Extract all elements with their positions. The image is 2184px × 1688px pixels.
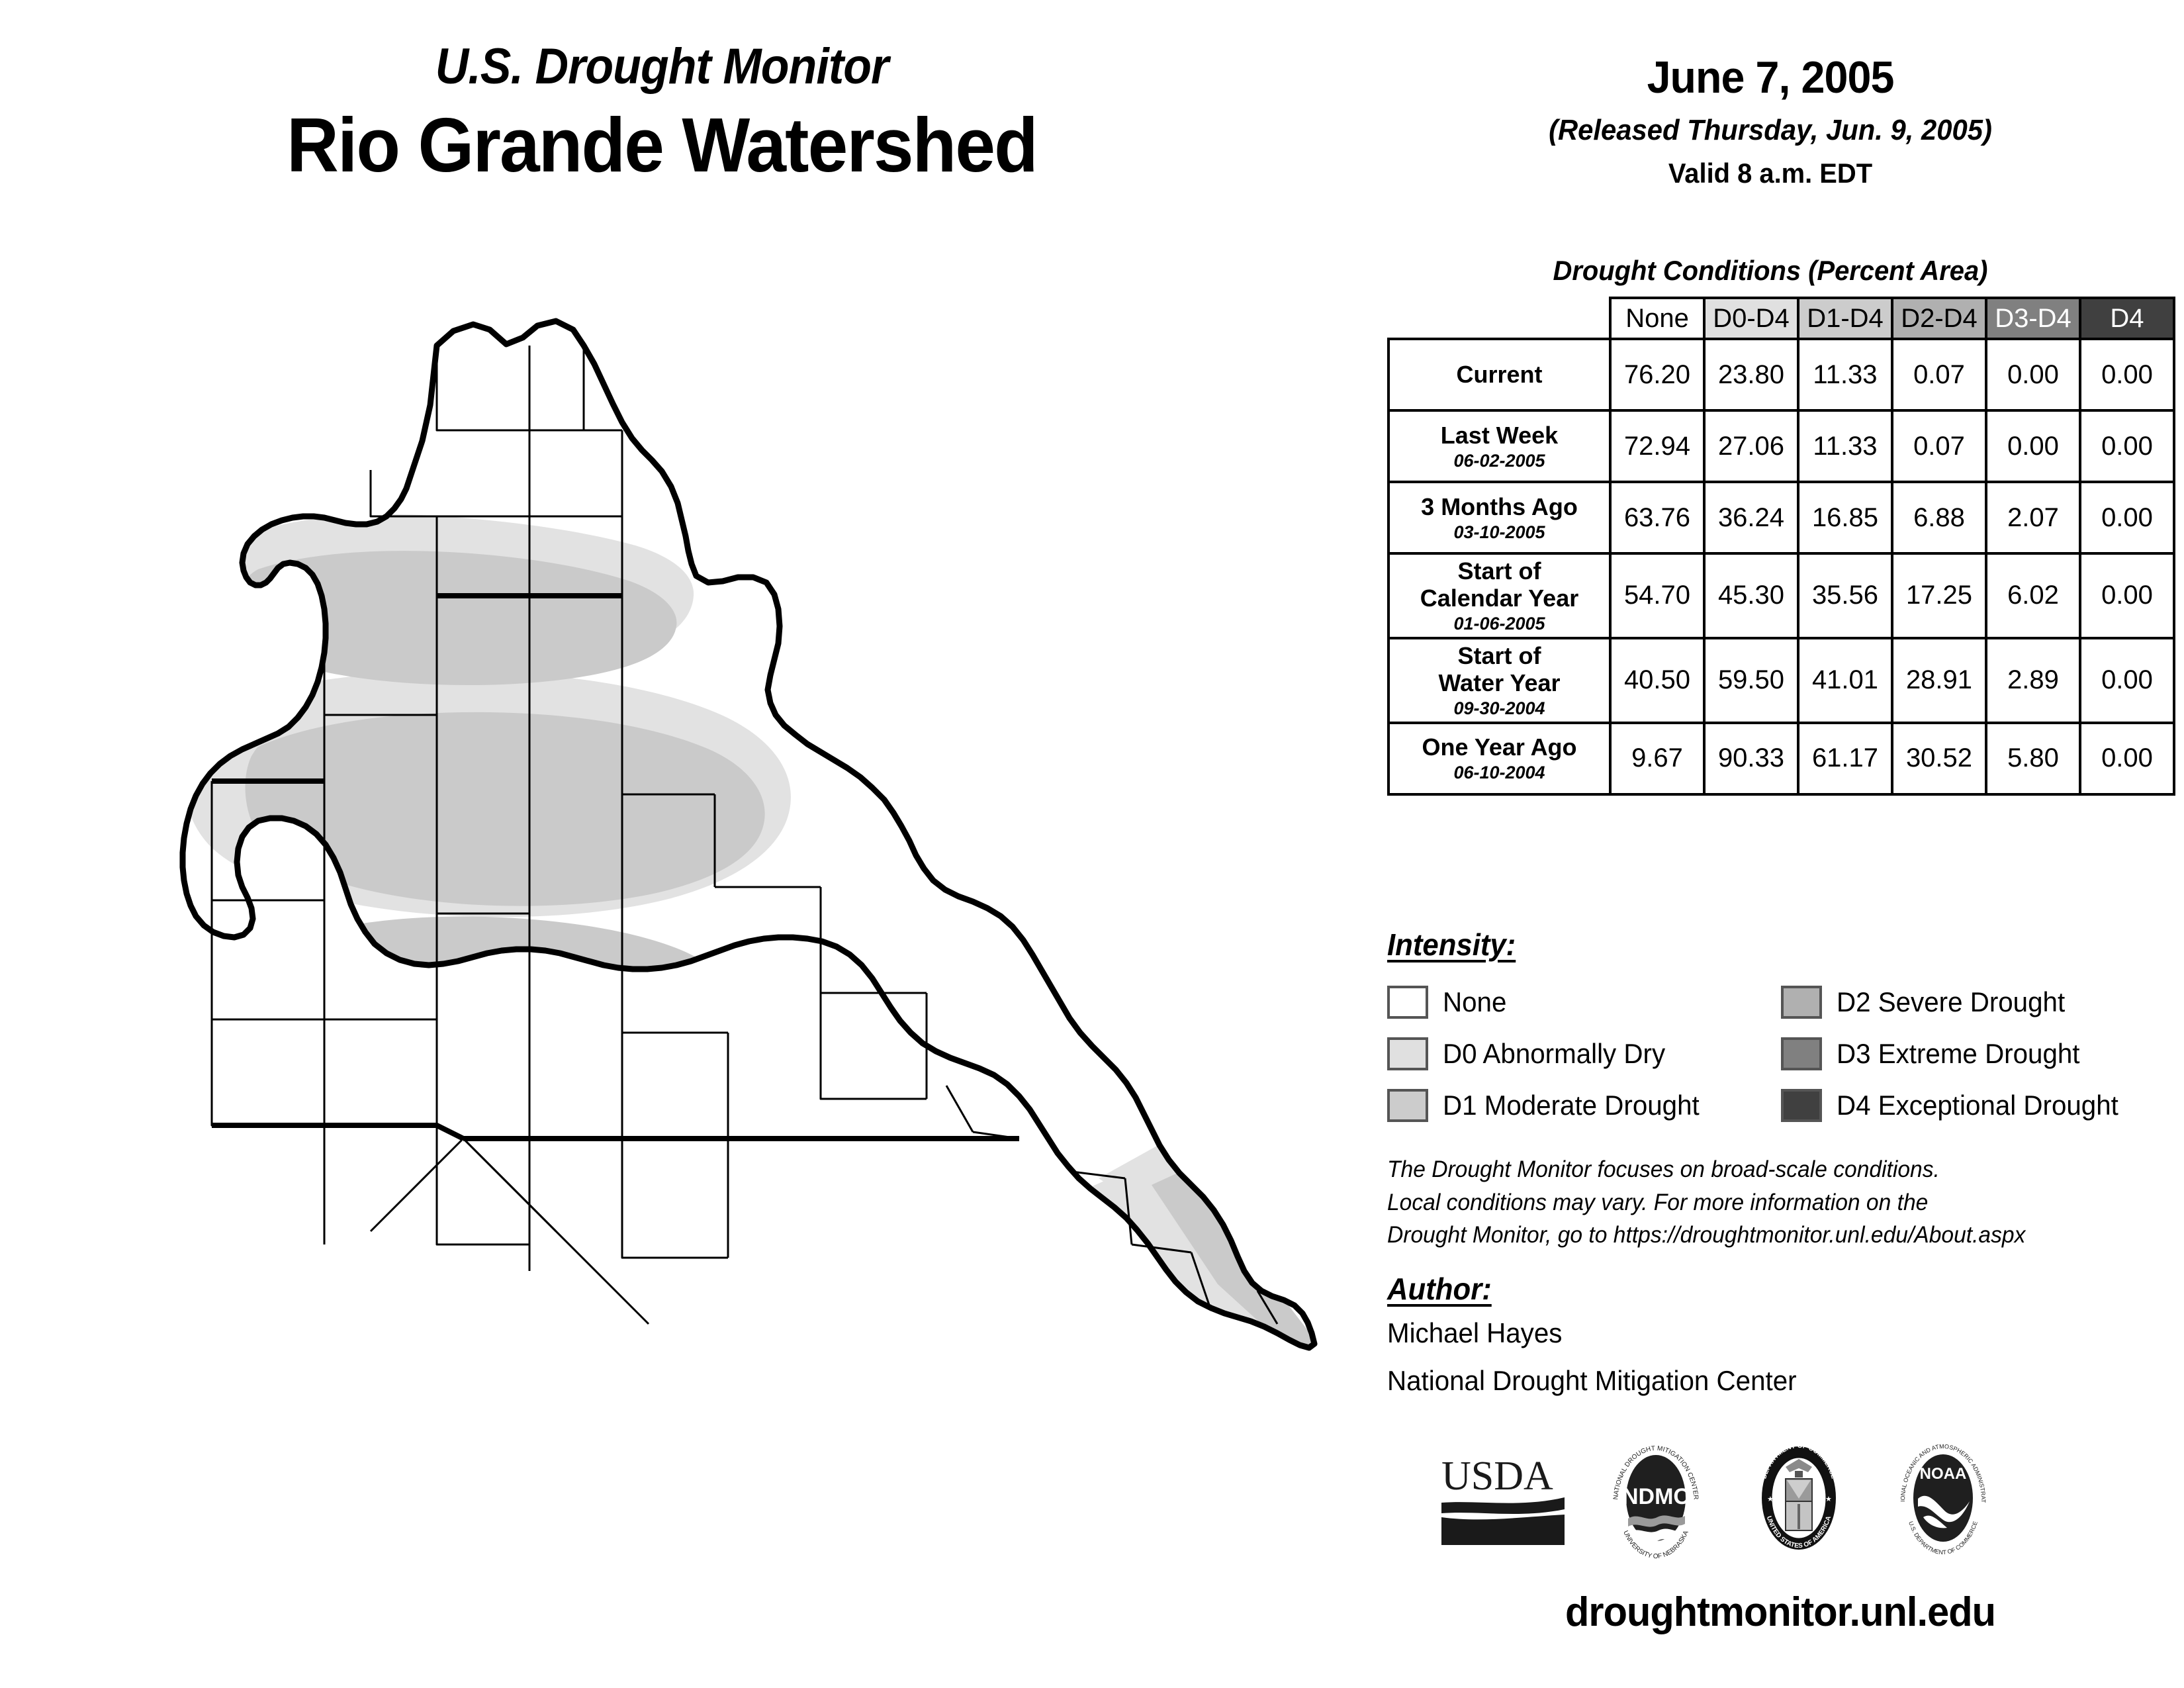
table-cell-d1-d4: 61.17	[1798, 723, 1892, 794]
row-label-date: 06-10-2004	[1394, 763, 1605, 783]
table-cell-d1-d4: 11.33	[1798, 339, 1892, 410]
table-row: One Year Ago06-10-20049.6790.3361.1730.5…	[1388, 723, 2174, 794]
disclaimer-line-2: Local conditions may vary. For more info…	[1387, 1186, 2150, 1219]
legend-label: D0 Abnormally Dry	[1443, 1038, 1665, 1070]
table-column-header-none: None	[1610, 298, 1704, 339]
table-row: 3 Months Ago03-10-200563.7636.2416.856.8…	[1388, 482, 2174, 553]
noaa-logo: NOAA NATIONAL OCEANIC AND ATMOSPHERIC AD…	[1889, 1435, 1998, 1564]
table-column-header-d3-d4: D3-D4	[1986, 298, 2080, 339]
table-cell-d4: 0.00	[2080, 723, 2174, 794]
table-cell-d4: 0.00	[2080, 410, 2174, 482]
table-corner-cell	[1388, 298, 1610, 339]
author-organization: National Drought Mitigation Center	[1387, 1365, 1797, 1397]
table-cell-d0-d4: 59.50	[1704, 638, 1798, 723]
table-cell-d1-d4: 16.85	[1798, 482, 1892, 553]
row-label: 3 Months Ago03-10-2005	[1388, 482, 1610, 553]
row-label-date: 09-30-2004	[1394, 698, 1605, 719]
table-cell-d0-d4: 23.80	[1704, 339, 1798, 410]
valid-time: Valid 8 a.m. EDT	[1396, 158, 2145, 189]
table-cell-d1-d4: 41.01	[1798, 638, 1892, 723]
row-label: Start ofWater Year09-30-2004	[1388, 638, 1610, 723]
svg-text:NOAA: NOAA	[1920, 1465, 1967, 1483]
legend-label: D1 Moderate Drought	[1443, 1090, 1700, 1121]
table-cell-d2-d4: 30.52	[1892, 723, 1986, 794]
department-of-commerce-seal: ★ ★ DEPARTMENT OF COMMERCE UNITED STATES…	[1746, 1435, 1852, 1564]
rio-grande-watershed-drought-map[interactable]	[93, 318, 1330, 1609]
table-cell-d3-d4: 6.02	[1986, 553, 2080, 638]
disclaimer-line-1: The Drought Monitor focuses on broad-sca…	[1387, 1153, 2150, 1186]
ndmc-logo: NDMC NATIONAL DROUGHT MITIGATION CENTER …	[1603, 1435, 1709, 1564]
map-panel: U.S. Drought Monitor Rio Grande Watershe…	[0, 0, 1377, 1688]
legend-row: D1 Moderate DroughtD4 Exceptional Drough…	[1387, 1080, 2175, 1131]
info-panel: June 7, 2005 (Released Thursday, Jun. 9,…	[1377, 0, 2184, 1688]
drought-conditions-table: NoneD0-D4D1-D4D2-D4D3-D4D4 Current76.202…	[1387, 297, 2175, 796]
table-cell-none: 54.70	[1610, 553, 1704, 638]
table-row: Start ofCalendar Year01-06-200554.7045.3…	[1388, 553, 2174, 638]
table-cell-none: 76.20	[1610, 339, 1704, 410]
table-cell-d0-d4: 90.33	[1704, 723, 1798, 794]
legend-item-d4-exceptional-drought[interactable]: D4 Exceptional Drought	[1781, 1089, 2175, 1122]
legend-swatch	[1781, 986, 1822, 1019]
table-cell-d0-d4: 36.24	[1704, 482, 1798, 553]
table-cell-d2-d4: 6.88	[1892, 482, 1986, 553]
legend-item-d1-moderate-drought[interactable]: D1 Moderate Drought	[1387, 1089, 1781, 1122]
table-cell-d0-d4: 27.06	[1704, 410, 1798, 482]
row-label-date: 01-06-2005	[1394, 614, 1605, 634]
disclaimer-line-3: Drought Monitor, go to https://droughtmo…	[1387, 1219, 2150, 1252]
table-cell-d3-d4: 2.89	[1986, 638, 2080, 723]
legend-swatch	[1387, 986, 1428, 1019]
legend-row: NoneD2 Severe Drought	[1387, 976, 2175, 1028]
table-caption: Drought Conditions (Percent Area)	[1396, 255, 2145, 287]
table-cell-d3-d4: 0.00	[1986, 339, 2080, 410]
legend-label: None	[1443, 986, 1506, 1018]
table-row: Last Week06-02-200572.9427.0611.330.070.…	[1388, 410, 2174, 482]
release-date: (Released Thursday, Jun. 9, 2005)	[1396, 114, 2145, 147]
legend-item-d3-extreme-drought[interactable]: D3 Extreme Drought	[1781, 1037, 2175, 1070]
intensity-legend: NoneD2 Severe DroughtD0 Abnormally DryD3…	[1387, 976, 2175, 1131]
table-cell-d3-d4: 5.80	[1986, 723, 2080, 794]
row-label: One Year Ago06-10-2004	[1388, 723, 1610, 794]
intensity-heading: Intensity:	[1387, 927, 1516, 962]
disclaimer-text: The Drought Monitor focuses on broad-sca…	[1387, 1153, 2150, 1252]
table-column-header-d4: D4	[2080, 298, 2174, 339]
table-cell-d2-d4: 17.25	[1892, 553, 1986, 638]
legend-swatch	[1387, 1089, 1428, 1122]
table-cell-d3-d4: 2.07	[1986, 482, 2080, 553]
legend-swatch	[1781, 1089, 1822, 1122]
legend-item-d2-severe-drought[interactable]: D2 Severe Drought	[1781, 986, 2175, 1019]
table-cell-d3-d4: 0.00	[1986, 410, 2080, 482]
table-cell-d2-d4: 0.07	[1892, 339, 1986, 410]
page-subtitle: U.S. Drought Monitor	[53, 40, 1271, 94]
table-body: Current76.2023.8011.330.070.000.00Last W…	[1388, 339, 2174, 794]
svg-text:NDMC: NDMC	[1622, 1484, 1690, 1509]
table-cell-d2-d4: 28.91	[1892, 638, 1986, 723]
usda-logo: USDA	[1440, 1448, 1566, 1551]
table-cell-d4: 0.00	[2080, 339, 2174, 410]
svg-text:★: ★	[1825, 1495, 1832, 1503]
legend-swatch	[1781, 1037, 1822, 1070]
table-cell-d2-d4: 0.07	[1892, 410, 1986, 482]
legend-label: D2 Severe Drought	[1837, 986, 2065, 1018]
table-row: Current76.2023.8011.330.070.000.00	[1388, 339, 2174, 410]
table-row: Start ofWater Year09-30-200440.5059.5041…	[1388, 638, 2174, 723]
svg-text:★: ★	[1767, 1495, 1774, 1503]
row-label-date: 06-02-2005	[1394, 451, 1605, 471]
report-date: June 7, 2005	[1396, 52, 2145, 103]
row-label: Last Week06-02-2005	[1388, 410, 1610, 482]
table-cell-d4: 0.00	[2080, 482, 2174, 553]
table-cell-d4: 0.00	[2080, 553, 2174, 638]
table-header-row: NoneD0-D4D1-D4D2-D4D3-D4D4	[1388, 298, 2174, 339]
legend-row: D0 Abnormally DryD3 Extreme Drought	[1387, 1028, 2175, 1080]
title-block: U.S. Drought Monitor Rio Grande Watershe…	[0, 40, 1324, 188]
legend-label: D3 Extreme Drought	[1837, 1038, 2080, 1070]
row-label: Current	[1388, 339, 1610, 410]
author-name: Michael Hayes	[1387, 1317, 1562, 1349]
table-cell-none: 40.50	[1610, 638, 1704, 723]
logo-row: USDA NDMC NATIONAL DROUGHT MITIGATION CE…	[1387, 1423, 2175, 1575]
date-block: June 7, 2005 (Released Thursday, Jun. 9,…	[1377, 52, 2164, 189]
table-column-header-d1-d4: D1-D4	[1798, 298, 1892, 339]
table-cell-d1-d4: 11.33	[1798, 410, 1892, 482]
table-cell-none: 72.94	[1610, 410, 1704, 482]
author-heading: Author:	[1387, 1271, 1492, 1307]
svg-text:USDA: USDA	[1441, 1454, 1553, 1499]
legend-swatch	[1387, 1037, 1428, 1070]
legend-label: D4 Exceptional Drought	[1837, 1090, 2118, 1121]
table-cell-none: 63.76	[1610, 482, 1704, 553]
page-title: Rio Grande Watershed	[40, 103, 1284, 188]
table-cell-none: 9.67	[1610, 723, 1704, 794]
table-column-header-d2-d4: D2-D4	[1892, 298, 1986, 339]
row-label: Start ofCalendar Year01-06-2005	[1388, 553, 1610, 638]
legend-item-d0-abnormally-dry[interactable]: D0 Abnormally Dry	[1387, 1037, 1781, 1070]
table-column-header-d0-d4: D0-D4	[1704, 298, 1798, 339]
table-cell-d1-d4: 35.56	[1798, 553, 1892, 638]
table-cell-d4: 0.00	[2080, 638, 2174, 723]
legend-item-none[interactable]: None	[1387, 986, 1781, 1019]
row-label-date: 03-10-2005	[1394, 522, 1605, 543]
table-cell-d0-d4: 45.30	[1704, 553, 1798, 638]
footer-url[interactable]: droughtmonitor.unl.edu	[1392, 1589, 2167, 1636]
